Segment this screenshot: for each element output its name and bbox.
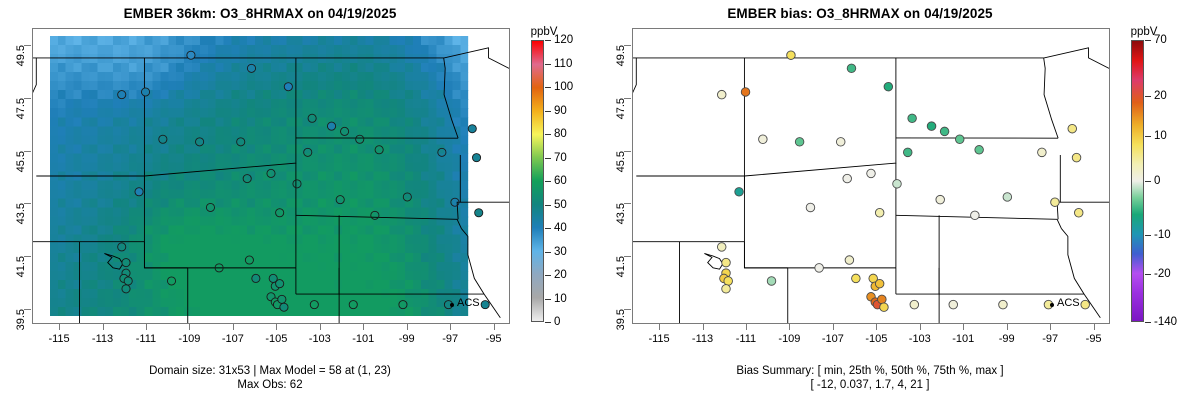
x-axis-label: -103 <box>309 333 331 345</box>
x-axis-tick <box>363 323 364 330</box>
panel-title-bias: EMBER bias: O3_8HRMAX on 04/19/2025 <box>600 6 1120 21</box>
x-axis-tick <box>920 323 921 330</box>
colorbar-tick <box>1145 322 1151 323</box>
y-axis-label: 47.5 <box>615 98 627 119</box>
x-axis-tick <box>876 323 877 330</box>
x-axis-tick <box>494 323 495 330</box>
x-axis-label: -105 <box>265 333 287 345</box>
colorbar-tick-label: 40 <box>554 222 567 234</box>
colorbar-tick <box>545 111 551 112</box>
observation-sites-bias <box>717 51 1089 312</box>
x-axis-label: -115 <box>648 333 669 345</box>
x-axis-label: -101 <box>952 333 974 345</box>
colorbar-tick-label: 10 <box>554 293 567 305</box>
colorbar-tick-label: -10 <box>1154 229 1171 241</box>
x-axis-label: -109 <box>778 333 800 345</box>
caption-bias-values: [ -12, 0.037, 1.7, 4, 21 ] <box>600 378 1140 394</box>
x-axis-tick <box>789 323 790 330</box>
colorbar-tick-label: 20 <box>1154 90 1167 102</box>
y-axis-label: 43.5 <box>15 203 27 224</box>
figure-root: EMBER 36km: O3_8HRMAX on 04/19/2025 39.5… <box>0 0 1200 409</box>
y-axis-label: 45.5 <box>615 151 627 172</box>
x-axis-label: -107 <box>822 333 844 345</box>
x-axis-label: -105 <box>865 333 887 345</box>
colorbar-tick-label: 10 <box>1154 130 1167 142</box>
colorbar-tick-label: -140 <box>1154 316 1177 328</box>
colorbar-tick-label: 70 <box>554 152 567 164</box>
y-axis-label: 49.5 <box>15 45 27 66</box>
colorbar-tick <box>545 205 551 206</box>
city-marker-label-model: ACS <box>457 297 480 309</box>
y-axis-label: 41.5 <box>15 256 27 277</box>
colorbar-tick-label: 70 <box>1154 34 1167 46</box>
x-axis-tick <box>703 323 704 330</box>
x-axis-tick <box>746 323 747 330</box>
colorbar-tick <box>1145 235 1151 236</box>
x-axis-tick <box>1007 323 1008 330</box>
x-axis-tick <box>276 323 277 330</box>
x-axis-tick <box>59 323 60 330</box>
x-axis-label: -115 <box>48 333 69 345</box>
x-axis-label: -97 <box>442 333 458 345</box>
colorbar-tick-label: 110 <box>554 58 572 70</box>
map-clip-model <box>33 29 509 323</box>
colorbar-tick-label: -20 <box>1154 268 1171 280</box>
colorbar-tick <box>545 87 551 88</box>
colorbar-tick-label: 30 <box>554 246 567 258</box>
city-marker-dot-bias <box>1050 303 1054 307</box>
x-axis-label: -95 <box>486 333 502 345</box>
colorbar-tick <box>545 322 551 323</box>
x-axis-label: -109 <box>178 333 200 345</box>
y-axis-label: 39.5 <box>615 309 627 330</box>
colorbar-tick <box>1145 96 1151 97</box>
y-axis-label: 47.5 <box>15 98 27 119</box>
x-axis-tick <box>103 323 104 330</box>
colorbar-tick <box>545 228 551 229</box>
colorbar-tick <box>545 275 551 276</box>
panel-bias: EMBER bias: O3_8HRMAX on 04/19/2025 39.5… <box>600 0 1200 409</box>
x-axis-tick <box>1094 323 1095 330</box>
colorbar-tick <box>1145 274 1151 275</box>
colorbar-tick <box>1145 181 1151 182</box>
x-axis-label: -97 <box>1042 333 1058 345</box>
colorbar-tick <box>545 181 551 182</box>
x-axis-tick <box>233 323 234 330</box>
x-axis-tick <box>963 323 964 330</box>
x-axis-label: -99 <box>999 333 1015 345</box>
colorbar-tick-label: 0 <box>554 316 560 328</box>
colorbar-tick <box>545 252 551 253</box>
colorbar-strip-model <box>531 40 544 322</box>
x-axis-tick <box>450 323 451 330</box>
x-axis-label: -103 <box>909 333 931 345</box>
colorbar-tick-label: 50 <box>554 199 567 211</box>
plot-area-model[interactable]: 39.541.543.545.547.549.5 -115-113-111-10… <box>32 28 510 324</box>
colorbar-tick-label: 60 <box>554 175 567 187</box>
colorbar-tick <box>545 40 551 41</box>
x-axis-tick <box>407 323 408 330</box>
colorbar-tick <box>545 299 551 300</box>
colorbar-tick-label: 120 <box>554 34 573 46</box>
y-axis-label: 45.5 <box>15 151 27 172</box>
x-axis-tick <box>833 323 834 330</box>
map-canvas-model <box>33 29 509 323</box>
colorbar-tick <box>545 134 551 135</box>
colorbar-tick <box>545 64 551 65</box>
x-axis-label: -113 <box>692 333 713 345</box>
x-axis-label: -111 <box>736 333 756 345</box>
panel-title-model: EMBER 36km: O3_8HRMAX on 04/19/2025 <box>0 6 520 21</box>
map-canvas-bias <box>633 29 1109 323</box>
colorbar-tick-label: 100 <box>554 81 573 93</box>
city-marker-dot-model <box>450 303 454 307</box>
x-axis-tick <box>659 323 660 330</box>
x-axis-label: -99 <box>399 333 415 345</box>
x-axis-tick <box>189 323 190 330</box>
y-axis-label: 49.5 <box>615 45 627 66</box>
x-axis-label: -111 <box>136 333 156 345</box>
x-axis-tick <box>146 323 147 330</box>
colorbar-tick-label: 0 <box>1154 175 1160 187</box>
y-axis-label: 43.5 <box>615 203 627 224</box>
colorbar-tick-label: 90 <box>554 105 567 117</box>
colorbar-tick <box>545 158 551 159</box>
y-axis-label: 39.5 <box>15 309 27 330</box>
panel-model: EMBER 36km: O3_8HRMAX on 04/19/2025 39.5… <box>0 0 600 409</box>
caption-max-obs: Max Obs: 62 <box>0 378 540 394</box>
y-axis-label: 41.5 <box>615 256 627 277</box>
plot-area-bias[interactable]: 39.541.543.545.547.549.5 -115-113-111-10… <box>632 28 1110 324</box>
x-axis-label: -113 <box>92 333 113 345</box>
colorbar-strip-bias <box>1131 40 1144 322</box>
colorbar-tick-label: 80 <box>554 128 567 140</box>
x-axis-label: -95 <box>1086 333 1102 345</box>
x-axis-tick <box>320 323 321 330</box>
colorbar-tick <box>1145 136 1151 137</box>
colorbar-tick-label: 20 <box>554 269 567 281</box>
x-axis-label: -107 <box>222 333 244 345</box>
city-marker-label-bias: ACS <box>1057 297 1080 309</box>
colorbar-tick <box>1145 40 1151 41</box>
x-axis-label: -101 <box>352 333 374 345</box>
x-axis-tick <box>1050 323 1051 330</box>
map-clip-bias <box>633 29 1109 323</box>
